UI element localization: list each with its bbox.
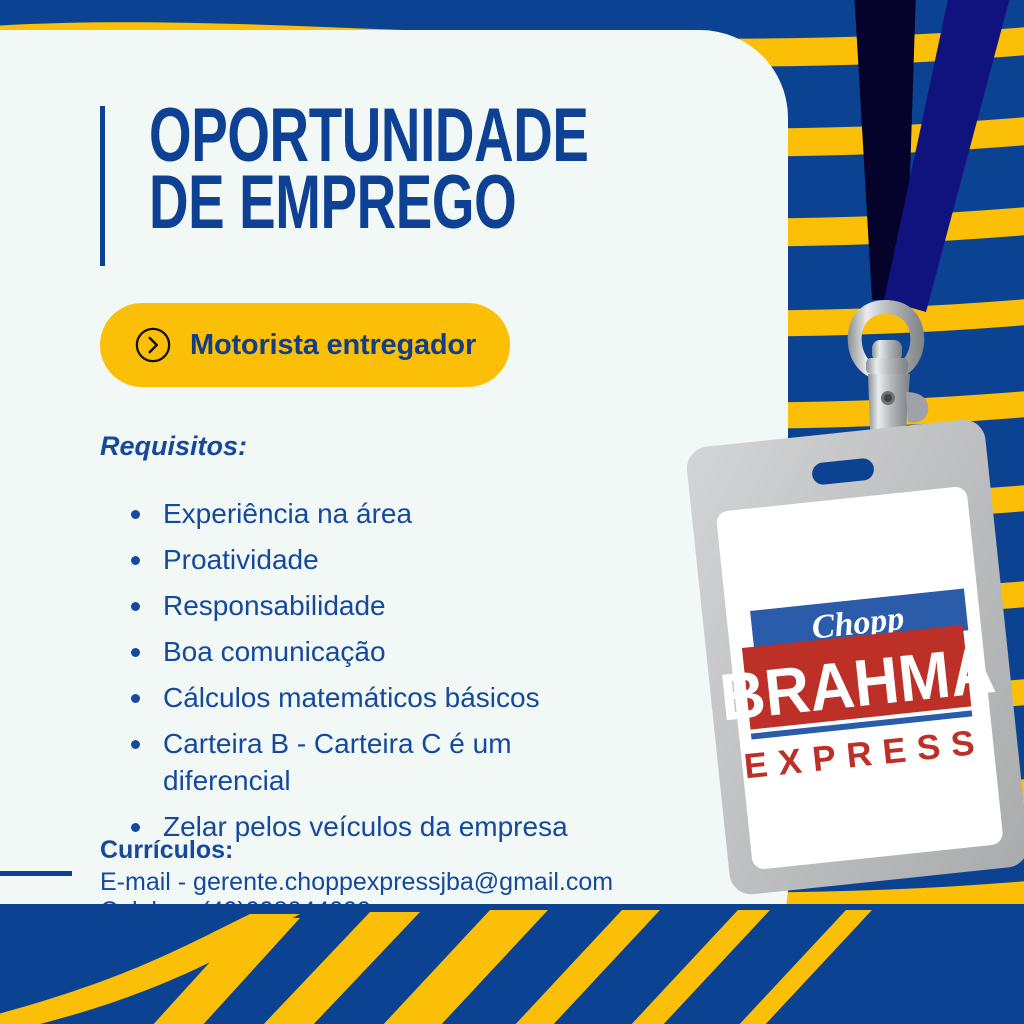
position-badge[interactable]: Motorista entregador xyxy=(100,303,510,387)
contact-email: E-mail - gerente.choppexpressjba@gmail.c… xyxy=(100,868,717,898)
poster-canvas: OPORTUNIDADE DE EMPREGO Motorista entreg… xyxy=(0,0,1024,1024)
headline-block: OPORTUNIDADE DE EMPREGO xyxy=(100,103,759,266)
bottom-diagonal-band xyxy=(0,904,1024,1024)
list-item: Experiência na área xyxy=(118,496,638,533)
chevron-right-circle-icon xyxy=(134,326,172,364)
bullet-icon xyxy=(131,694,140,703)
contact-divider xyxy=(0,871,72,876)
list-item-label: Experiência na área xyxy=(163,498,412,529)
page-title: OPORTUNIDADE DE EMPREGO xyxy=(149,103,589,237)
list-item-label: Carteira B - Carteira C é um diferencial xyxy=(163,728,512,796)
bullet-icon xyxy=(131,648,140,657)
bullet-icon xyxy=(131,740,140,749)
requirements-title: Requisitos: xyxy=(100,431,247,462)
list-item-label: Boa comunicação xyxy=(163,636,386,667)
bullet-icon xyxy=(131,510,140,519)
list-item: Cálculos matemáticos básicos xyxy=(118,680,638,717)
bullet-icon xyxy=(131,602,140,611)
list-item-label: Cálculos matemáticos básicos xyxy=(163,682,540,713)
list-item: Boa comunicação xyxy=(118,634,638,671)
headline-accent-bar xyxy=(100,106,105,266)
list-item: Carteira B - Carteira C é um diferencial xyxy=(118,726,638,800)
bullet-icon xyxy=(131,823,140,832)
position-label: Motorista entregador xyxy=(190,329,476,362)
contact-title: Currículos: xyxy=(100,836,717,866)
list-item-label: Responsabilidade xyxy=(163,590,386,621)
list-item-label: Proatividade xyxy=(163,544,319,575)
headline-line-2: DE EMPREGO xyxy=(149,170,589,237)
list-item: Responsabilidade xyxy=(118,588,638,625)
bullet-icon xyxy=(131,556,140,565)
requirements-list: Experiência na área Proatividade Respons… xyxy=(118,496,638,855)
list-item: Proatividade xyxy=(118,542,638,579)
